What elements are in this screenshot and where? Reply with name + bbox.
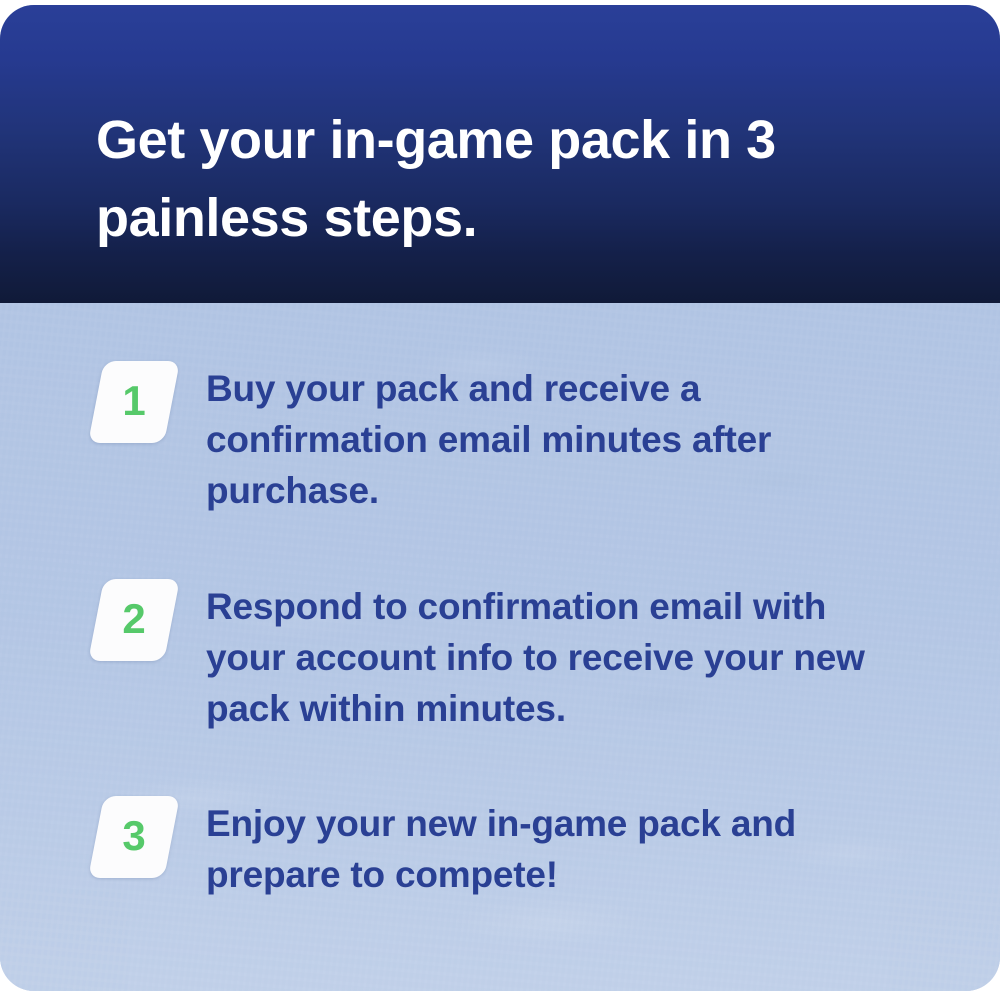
step-number-label: 2 — [96, 579, 172, 661]
step-number-label: 1 — [96, 361, 172, 443]
step-description: Buy your pack and receive a confirmation… — [206, 361, 866, 516]
step-number-label: 3 — [96, 796, 172, 878]
page-title: Get your in-game pack in 3 painless step… — [96, 101, 876, 257]
list-item: 1 Buy your pack and receive a confirmati… — [96, 361, 940, 516]
card-header: Get your in-game pack in 3 painless step… — [0, 5, 1000, 303]
list-item: 2 Respond to confirmation email with you… — [96, 579, 940, 734]
promo-card: Get your in-game pack in 3 painless step… — [0, 5, 1000, 991]
steps-section: 1 Buy your pack and receive a confirmati… — [0, 303, 1000, 991]
step-number-badge: 2 — [96, 579, 172, 661]
step-number-badge: 3 — [96, 796, 172, 878]
step-description: Respond to confirmation email with your … — [206, 579, 866, 734]
step-description: Enjoy your new in-game pack and prepare … — [206, 796, 866, 900]
step-number-badge: 1 — [96, 361, 172, 443]
list-item: 3 Enjoy your new in-game pack and prepar… — [96, 796, 940, 900]
